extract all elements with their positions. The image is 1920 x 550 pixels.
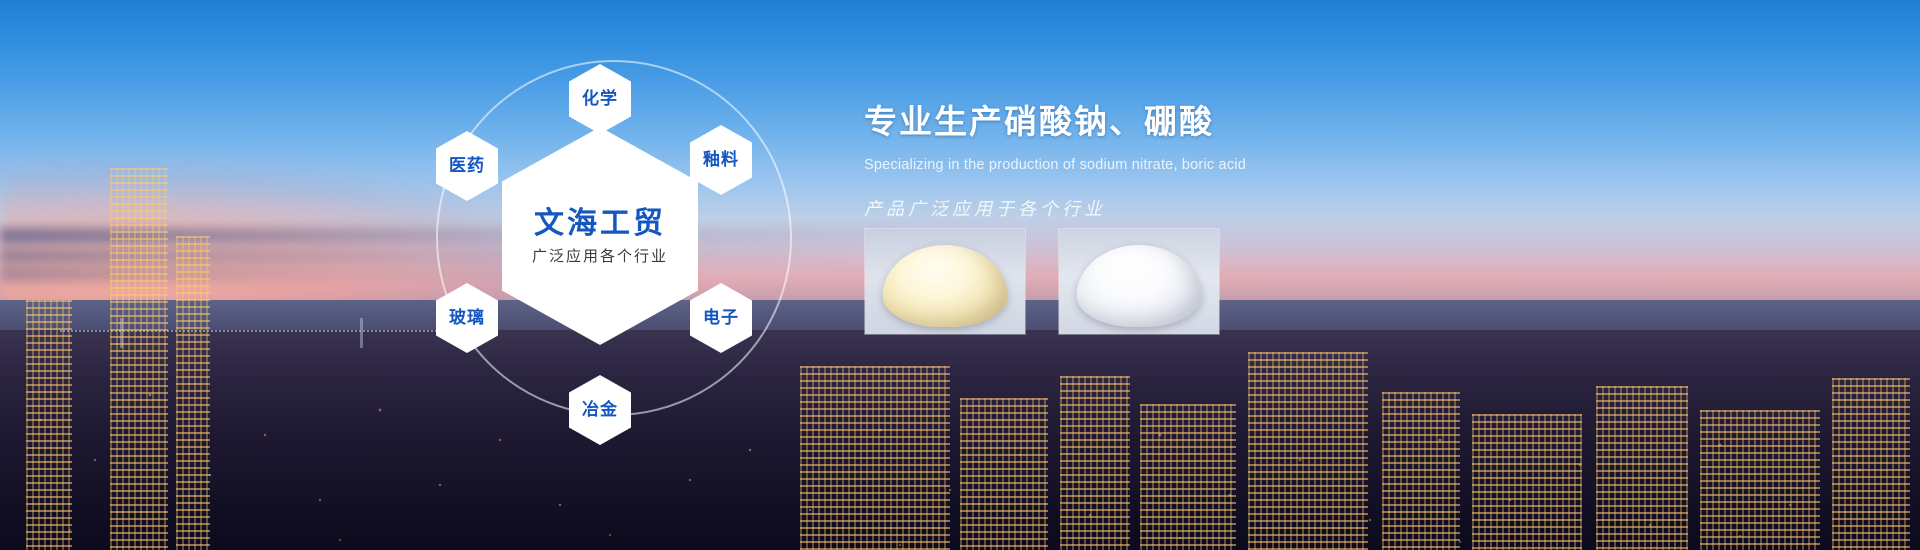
company-name: 文海工贸 (534, 207, 666, 242)
hex-node-label: 釉料 (703, 150, 739, 170)
city-lights (0, 300, 1920, 550)
hex-node-label: 冶金 (582, 400, 618, 420)
hex-node-label: 化学 (582, 89, 618, 109)
headline-chinese: 专业生产硝酸钠、硼酸 (864, 95, 1484, 143)
headline-block: 专业生产硝酸钠、硼酸 Specializing in the productio… (864, 95, 1484, 221)
product-photo-row (864, 228, 1220, 335)
tagline-chinese: 产品广泛应用于各个行业 (864, 195, 1484, 221)
industry-hex-diagram: 化学 釉料 电子 冶金 玻璃 医药 文海工贸 广泛应用各个行业 (420, 30, 820, 450)
hex-node-label: 玻璃 (449, 308, 485, 328)
product-photo-sodium-nitrate[interactable] (864, 228, 1026, 335)
product-photo-boric-acid[interactable] (1058, 228, 1220, 335)
headline-english: Specializing in the production of sodium… (864, 157, 1484, 173)
hex-node-label: 医药 (449, 156, 485, 176)
company-subtitle: 广泛应用各个行业 (532, 248, 668, 265)
hex-node-label: 电子 (703, 308, 739, 328)
promo-banner: 化学 釉料 电子 冶金 玻璃 医药 文海工贸 广泛应用各个行业 专业生产硝酸钠、… (0, 0, 1920, 550)
